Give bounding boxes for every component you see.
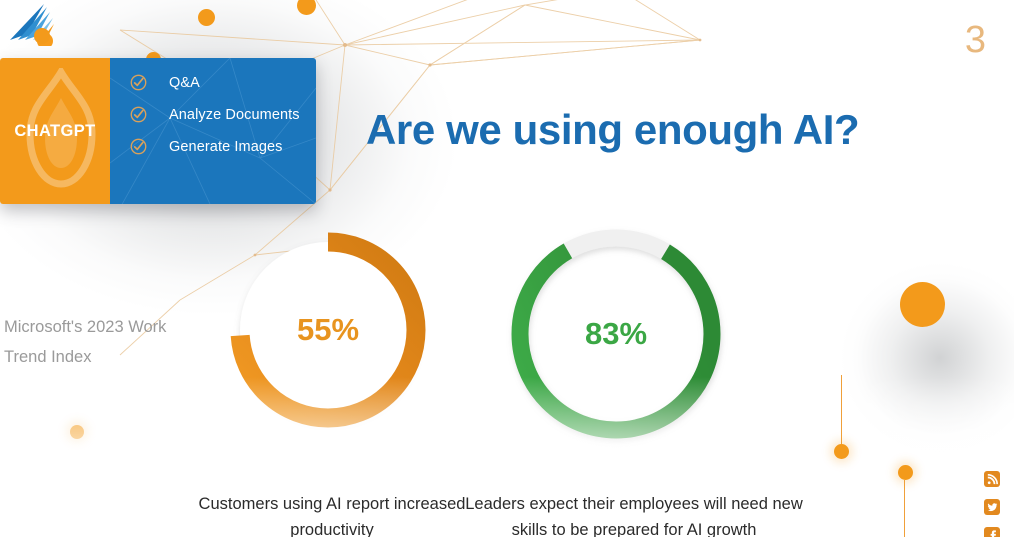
donut-caption-83: Leaders expect their employees will need…: [464, 492, 804, 537]
decor-dot: [198, 9, 215, 26]
feature-label: Analyze Documents: [169, 107, 300, 123]
decor-dot: [70, 425, 84, 439]
chatgpt-label: CHATGPT: [14, 122, 95, 141]
source-label: Microsoft's 2023 Work Trend Index: [4, 313, 204, 372]
donut-chart-55: 55%: [220, 222, 436, 438]
decor-dot: [297, 0, 316, 15]
twitter-icon[interactable]: [984, 499, 1000, 515]
check-circle-icon: [130, 138, 147, 155]
decor-dot-large: [900, 282, 945, 327]
check-circle-icon: [130, 106, 147, 123]
check-circle-icon: [130, 74, 147, 91]
social-links: [984, 471, 1000, 537]
donut-value-label: 55%: [220, 312, 436, 348]
feature-label: Generate Images: [169, 139, 283, 155]
page-title: Are we using enough AI?: [366, 106, 859, 154]
donut-caption-55: Customers using AI report increased prod…: [196, 492, 468, 537]
feature-row: Analyze Documents: [130, 106, 316, 123]
donut-chart-83: 83%: [500, 218, 732, 450]
slide-canvas: 3 CHATGPT: [0, 0, 1014, 537]
feature-row: Generate Images: [130, 138, 316, 155]
decor-line: [904, 480, 905, 537]
decor-dot: [34, 28, 50, 44]
background-glow-right: [815, 238, 1014, 478]
slide-number: 3: [965, 19, 986, 62]
decor-dot: [898, 465, 913, 480]
chatgpt-card: CHATGPT Q&A: [0, 58, 316, 204]
chatgpt-card-features: Q&A Analyze Documents Generate Images: [110, 58, 316, 204]
donut-value-label: 83%: [500, 316, 732, 352]
decor-dot: [834, 444, 849, 459]
chatgpt-card-brand: CHATGPT: [0, 58, 110, 204]
facebook-icon[interactable]: [984, 527, 1000, 537]
feature-row: Q&A: [130, 74, 316, 91]
feature-label: Q&A: [169, 75, 200, 91]
decor-line: [841, 375, 842, 450]
rss-icon[interactable]: [984, 471, 1000, 487]
